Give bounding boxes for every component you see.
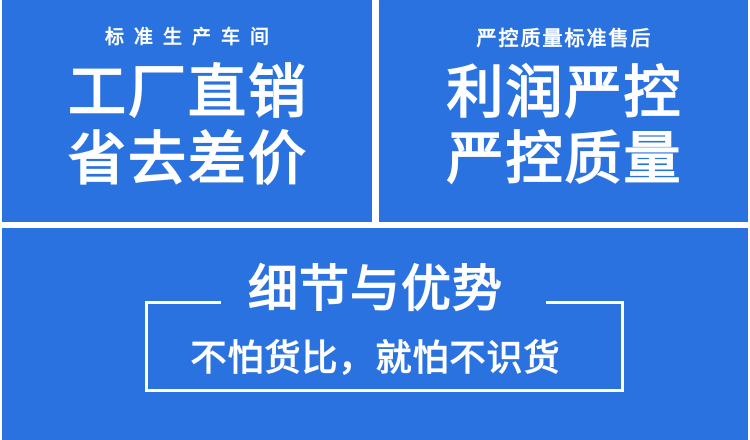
panel-quality-control-content: 严控质量标准售后 利润严控 严控质量 [379, 0, 748, 222]
panel-factory-direct: 标准生产车间 工厂直销 省去差价 [2, 0, 372, 222]
promo-banner: 标准生产车间 工厂直销 省去差价 严控质量标准售后 利润严控 严控质量 细节与优… [0, 0, 750, 440]
eyebrow-standard-workshop: 标准生产车间 [95, 28, 279, 47]
headline-factory-direct-line1: 工厂直销 [66, 63, 308, 122]
bottom-panel-subtitle: 不怕货比，就怕不识货 [2, 340, 748, 376]
bottom-panel-title: 细节与优势 [2, 264, 748, 314]
headline-quality-control-line2: 严控质量 [445, 130, 683, 188]
headline-factory-direct-line2: 省去差价 [66, 130, 308, 189]
panel-details-advantages: 细节与优势 不怕货比，就怕不识货 [2, 228, 748, 440]
eyebrow-quality-after-sales: 严控质量标准售后 [475, 29, 653, 49]
panel-quality-control: 严控质量标准售后 利润严控 严控质量 [379, 0, 748, 222]
headline-quality-control-line1: 利润严控 [445, 64, 683, 122]
frame-bottom-edge [145, 389, 624, 392]
panel-factory-direct-content: 标准生产车间 工厂直销 省去差价 [2, 0, 372, 222]
